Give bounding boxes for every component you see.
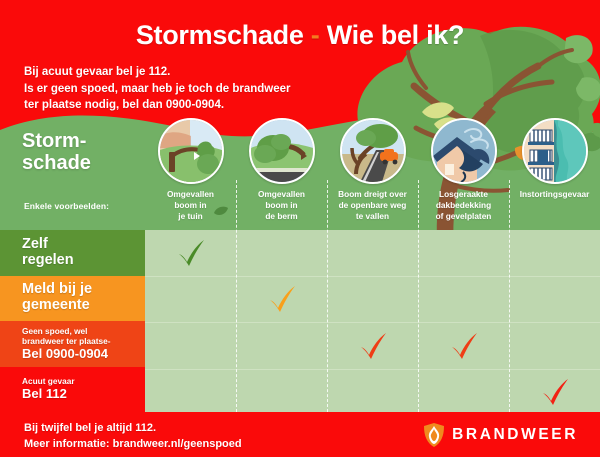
row-label: Geen spoed, welbrandweer ter plaatse-Bel… bbox=[0, 321, 145, 367]
fallen-tree-garden-icon bbox=[158, 118, 224, 184]
infographic-poster: Stormschade - Wie bel ik? Bij acuut geva… bbox=[0, 0, 600, 457]
footer-line-2[interactable]: Meer informatie: brandweer.nl/geenspoed bbox=[24, 437, 242, 453]
column-header-tree-over-road: Boom dreigt over de openbare weg te vall… bbox=[327, 118, 418, 230]
column-header-fallen-tree-verge: Omgevallen boom in de berm bbox=[236, 118, 327, 230]
row-label-column: ZelfregelenMeld bij jegemeenteGeen spoed… bbox=[0, 230, 145, 412]
brandweer-wordmark: BRANDWEER bbox=[452, 426, 578, 444]
title-dash: - bbox=[311, 20, 320, 50]
matrix-cell-empty[interactable] bbox=[418, 230, 509, 276]
column-caption: Omgevallen boom in je tuin bbox=[167, 189, 214, 222]
table-row bbox=[145, 370, 600, 416]
title-main: Stormschade bbox=[136, 20, 304, 50]
matrix-cell-empty[interactable] bbox=[145, 370, 236, 416]
table-row bbox=[145, 323, 600, 370]
check-icon bbox=[174, 236, 208, 270]
collapse-danger-icon bbox=[522, 118, 588, 184]
column-header-fallen-tree-garden: Omgevallen boom in je tuin bbox=[145, 118, 236, 230]
header-subtitle: Bij acuut gevaar bel je 112. Is er geen … bbox=[24, 64, 291, 114]
check-icon bbox=[447, 329, 481, 363]
row-label-small-1: Acuut gevaar bbox=[22, 376, 137, 386]
footer-bar: Bij twijfel bel je altijd 112. Meer info… bbox=[0, 412, 600, 457]
row-label: Acuut gevaarBel 112 bbox=[0, 367, 145, 413]
loose-roofing-icon bbox=[431, 118, 497, 184]
matrix-cell-empty[interactable] bbox=[509, 323, 600, 369]
caption-line-1: Omgevallen bbox=[258, 189, 305, 200]
category-title: Storm- schade bbox=[22, 131, 91, 174]
matrix-cell-empty[interactable] bbox=[236, 230, 327, 276]
row-label-small-1: Geen spoed, wel bbox=[22, 326, 137, 336]
caption-line-3: je tuin bbox=[167, 211, 214, 222]
row-label-line-1: Meld bij je bbox=[22, 282, 137, 298]
brandweer-shield-flame-icon bbox=[423, 423, 445, 447]
row-label-phone: Bel 112 bbox=[22, 387, 137, 402]
check-icon bbox=[356, 329, 390, 363]
caption-line-3: of gevelplaten bbox=[436, 211, 492, 222]
caption-line-1: Instortingsgevaar bbox=[520, 189, 590, 200]
category-line-1: Storm- bbox=[22, 131, 91, 153]
matrix-cell-empty[interactable] bbox=[327, 370, 418, 416]
table-row bbox=[145, 230, 600, 277]
row-label-line-2: gemeente bbox=[22, 298, 137, 314]
matrix-cell-checked[interactable] bbox=[509, 370, 600, 416]
matrix-cell-empty[interactable] bbox=[327, 277, 418, 323]
advice-matrix-grid bbox=[145, 230, 600, 412]
subtitle-line-1: Bij acuut gevaar bel je 112. bbox=[24, 64, 291, 81]
column-headers: Omgevallen boom in je tuin bbox=[145, 118, 600, 230]
caption-line-1: Omgevallen bbox=[167, 189, 214, 200]
column-caption: Boom dreigt over de openbare weg te vall… bbox=[338, 189, 407, 222]
row-label: Meld bij jegemeente bbox=[0, 276, 145, 322]
caption-line-2: boom in bbox=[258, 200, 305, 211]
column-caption: Losgeraakte dakbedekking of gevelplaten bbox=[436, 189, 492, 222]
row-label: Zelfregelen bbox=[0, 230, 145, 276]
category-line-2: schade bbox=[22, 153, 91, 175]
row-label-small-2: brandweer ter plaatse- bbox=[22, 336, 137, 346]
matrix-cell-checked[interactable] bbox=[327, 323, 418, 369]
caption-line-3: te vallen bbox=[338, 211, 407, 222]
row-label-line-2: regelen bbox=[22, 253, 137, 269]
column-caption: Instortingsgevaar bbox=[520, 189, 590, 200]
row-label-line-1: Zelf bbox=[22, 237, 137, 253]
caption-line-1: Boom dreigt over bbox=[338, 189, 407, 200]
brandweer-logo: BRANDWEER bbox=[423, 423, 578, 447]
check-icon bbox=[265, 282, 299, 316]
column-header-collapse-danger: Instortingsgevaar bbox=[509, 118, 600, 230]
matrix-cell-empty[interactable] bbox=[418, 370, 509, 416]
footer-line-1: Bij twijfel bel je altijd 112. bbox=[24, 421, 242, 437]
tree-over-road-icon bbox=[340, 118, 406, 184]
caption-line-3: de berm bbox=[258, 211, 305, 222]
column-header-loose-roofing: Losgeraakte dakbedekking of gevelplaten bbox=[418, 118, 509, 230]
footer-text: Bij twijfel bel je altijd 112. Meer info… bbox=[24, 421, 242, 453]
row-label-phone: Bel 0900-0904 bbox=[22, 347, 137, 362]
matrix-cell-empty[interactable] bbox=[509, 277, 600, 323]
matrix-cell-empty[interactable] bbox=[145, 323, 236, 369]
column-caption: Omgevallen boom in de berm bbox=[258, 189, 305, 222]
subtitle-line-3: ter plaatse nodig, bel dan 0900-0904. bbox=[24, 97, 291, 114]
matrix-cell-checked[interactable] bbox=[236, 277, 327, 323]
matrix-cell-empty[interactable] bbox=[236, 323, 327, 369]
subtitle-line-2: Is er geen spoed, maar heb je toch de br… bbox=[24, 81, 291, 98]
matrix-cell-empty[interactable] bbox=[327, 230, 418, 276]
caption-line-1: Losgeraakte bbox=[436, 189, 492, 200]
examples-label: Enkele voorbeelden: bbox=[24, 201, 109, 211]
matrix-cell-empty[interactable] bbox=[418, 277, 509, 323]
matrix-cell-empty[interactable] bbox=[509, 230, 600, 276]
caption-line-2: boom in bbox=[167, 200, 214, 211]
check-icon bbox=[538, 375, 572, 409]
fallen-tree-verge-icon bbox=[249, 118, 315, 184]
caption-line-2: dakbedekking bbox=[436, 200, 492, 211]
caption-line-2: de openbare weg bbox=[338, 200, 407, 211]
matrix-cell-empty[interactable] bbox=[236, 370, 327, 416]
table-row bbox=[145, 277, 600, 324]
matrix-cell-empty[interactable] bbox=[145, 277, 236, 323]
matrix-cell-checked[interactable] bbox=[418, 323, 509, 369]
matrix-cell-checked[interactable] bbox=[145, 230, 236, 276]
